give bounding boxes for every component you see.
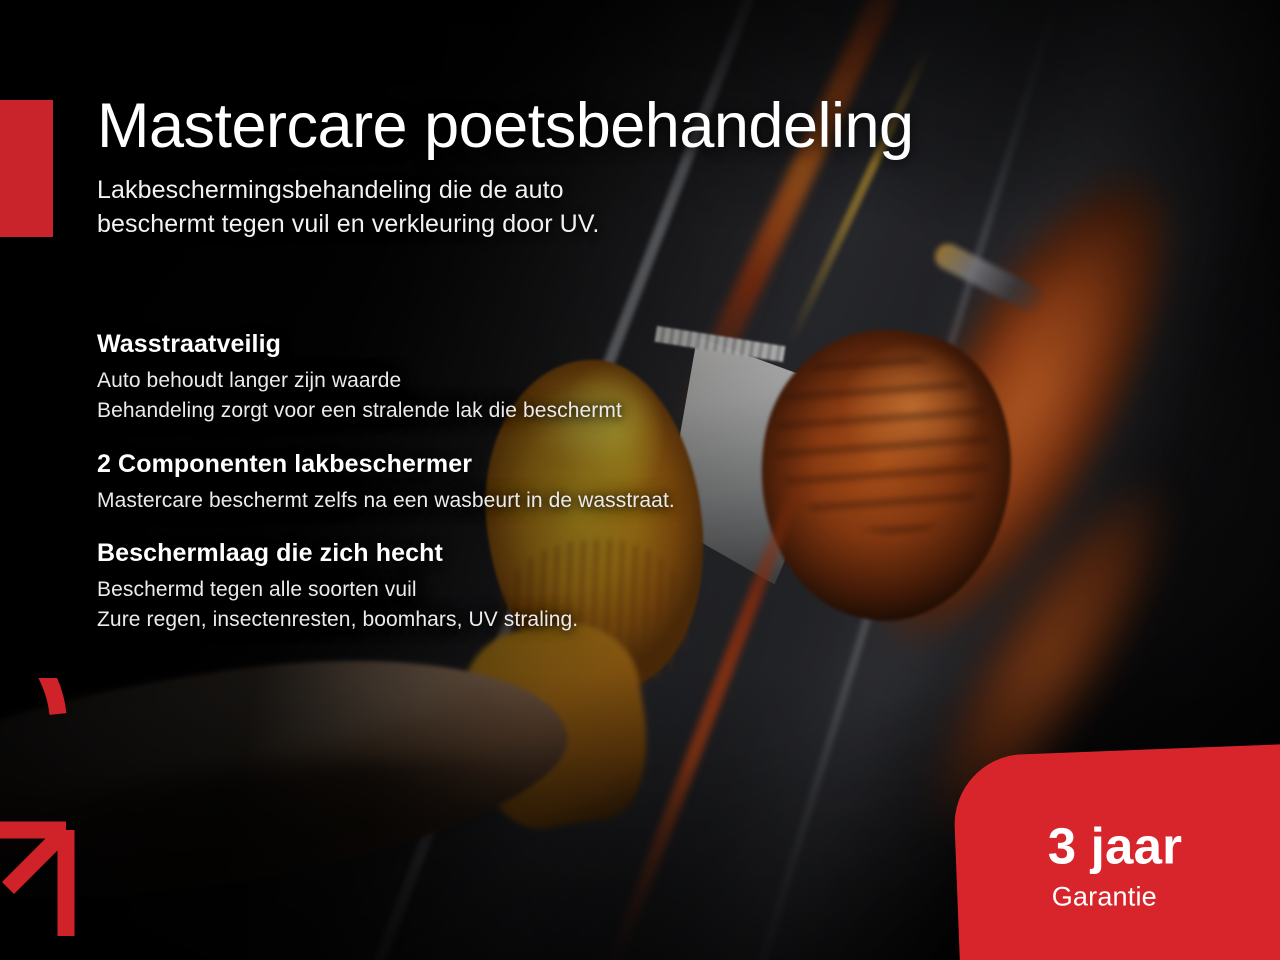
page-title: Mastercare poetsbehandeling [97, 92, 914, 160]
feature-list: Wasstraatveilig Auto behoudt langer zijn… [97, 330, 857, 635]
feature-line: Behandeling zorgt voor een stralende lak… [97, 396, 857, 426]
feature-heading: Wasstraatveilig [97, 330, 857, 359]
promo-poster: Mastercare poetsbehandeling Lakbeschermi… [0, 0, 1280, 960]
feature-item: 2 Componenten lakbeschermer Mastercare b… [97, 450, 857, 516]
guarantee-badge-inner: 3 jaar Garantie [956, 751, 1280, 951]
page-subtitle: Lakbeschermingsbehandeling die de auto b… [97, 174, 599, 241]
feature-item: Beschermlaag die zich hecht Beschermd te… [97, 539, 857, 635]
feature-line: Mastercare beschermt zelfs na een wasbeu… [97, 486, 857, 516]
guarantee-label: Garantie [1052, 882, 1157, 913]
feature-line: Beschermd tegen alle soorten vuil [97, 575, 857, 605]
feature-line: Auto behoudt langer zijn waarde [97, 366, 857, 396]
guarantee-years: 3 jaar [1048, 817, 1182, 876]
feature-line: Zure regen, insectenresten, boomhars, UV… [97, 605, 857, 635]
feature-heading: Beschermlaag die zich hecht [97, 539, 857, 568]
feature-heading: 2 Componenten lakbeschermer [97, 450, 857, 479]
guarantee-badge: 3 jaar Garantie [952, 743, 1280, 960]
feature-item: Wasstraatveilig Auto behoudt langer zijn… [97, 330, 857, 426]
